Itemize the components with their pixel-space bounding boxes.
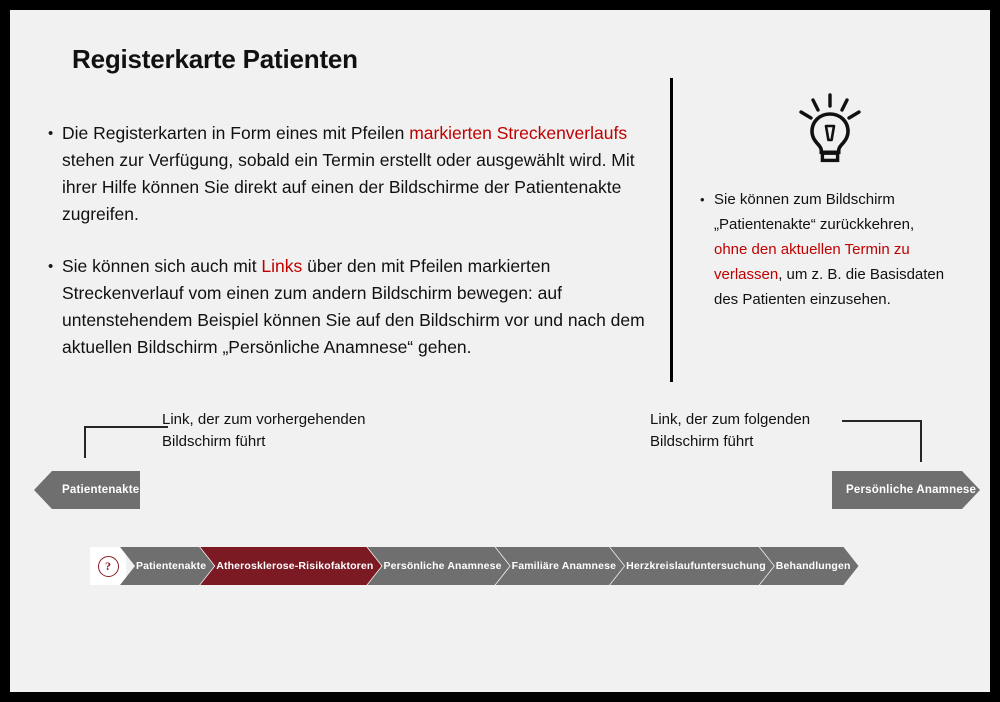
chevron-button-next-persoenliche-anamnese[interactable]: Persönliche Anamnese — [832, 471, 980, 509]
leader-line-vertical — [920, 420, 922, 462]
leader-line-previous — [76, 418, 168, 458]
slide-frame: Registerkarte Patienten • Die Registerka… — [0, 0, 1000, 702]
breadcrumb-item-label: Patientenakte — [136, 560, 206, 572]
breadcrumb-item-behandlungen[interactable]: Behandlungen — [760, 547, 859, 585]
chevron-button-previous-patientenakte[interactable]: Patientenakte — [34, 471, 140, 509]
breadcrumb-item-patientenakte[interactable]: Patientenakte — [120, 547, 214, 585]
bullet-2-segment-1: Sie können sich auch mit — [62, 256, 261, 276]
breadcrumb-item-persoenliche-anamnese[interactable]: Persönliche Anamnese — [367, 547, 509, 585]
lightbulb-icon — [796, 92, 864, 164]
breadcrumb-item-label: Atherosklerose-Risikofaktoren — [216, 560, 373, 572]
help-badge[interactable]: ? — [90, 547, 126, 585]
annotation-next-label: Link, der zum folgenden Bildschirm führt — [650, 409, 870, 453]
tip-segment-1: Sie können zum Bildschirm „Patientenakte… — [714, 191, 914, 233]
page-title: Registerkarte Patienten — [72, 44, 358, 75]
tip-bullet-item: • Sie können zum Bildschirm „Patientenak… — [700, 187, 950, 312]
vertical-divider — [670, 78, 673, 382]
leader-line-horizontal — [84, 426, 168, 428]
bullet-item-2: • Sie können sich auch mit Links über de… — [48, 253, 650, 361]
bullet-2-segment-2-highlight: Links — [261, 256, 302, 276]
leader-line-horizontal — [842, 420, 922, 422]
bullet-marker: • — [48, 253, 62, 280]
leader-line-vertical — [84, 426, 86, 458]
bullet-1-segment-2-highlight: markierten Streckenverlaufs — [409, 123, 627, 143]
tip-text: Sie können zum Bildschirm „Patientenakte… — [714, 187, 950, 312]
bullet-1-segment-1: Die Registerkarten in Form eines mit Pfe… — [62, 123, 409, 143]
breadcrumb-item-label: Persönliche Anamnese — [383, 560, 501, 572]
breadcrumb-item-label: Familiäre Anamnese — [512, 560, 616, 572]
annotation-previous-label: Link, der zum vorhergehenden Bildschirm … — [162, 409, 412, 453]
bullet-marker: • — [700, 187, 714, 212]
breadcrumb-item-label: Herzkreislaufuntersuchung — [626, 560, 766, 572]
breadcrumb: ? Patientenakte Atherosklerose-Risikofak… — [90, 547, 859, 585]
question-mark-icon: ? — [98, 556, 119, 577]
bullet-item-1: • Die Registerkarten in Form eines mit P… — [48, 120, 648, 228]
bullet-text-1: Die Registerkarten in Form eines mit Pfe… — [62, 120, 648, 228]
slide-canvas: Registerkarte Patienten • Die Registerka… — [10, 10, 990, 692]
breadcrumb-item-familiaere-anamnese[interactable]: Familiäre Anamnese — [496, 547, 624, 585]
bullet-1-segment-3: stehen zur Verfügung, sobald ein Termin … — [62, 150, 635, 224]
bullet-marker: • — [48, 120, 62, 147]
breadcrumb-item-label: Behandlungen — [776, 560, 851, 572]
leader-line-next — [842, 414, 928, 462]
chevron-button-next-label: Persönliche Anamnese — [846, 484, 976, 496]
breadcrumb-item-herzkreislaufuntersuchung[interactable]: Herzkreislaufuntersuchung — [610, 547, 774, 585]
chevron-button-previous-label: Patientenakte — [62, 484, 139, 496]
bullet-text-2: Sie können sich auch mit Links über den … — [62, 253, 650, 361]
breadcrumb-item-atherosklerose-risikofaktoren[interactable]: Atherosklerose-Risikofaktoren — [200, 547, 381, 585]
